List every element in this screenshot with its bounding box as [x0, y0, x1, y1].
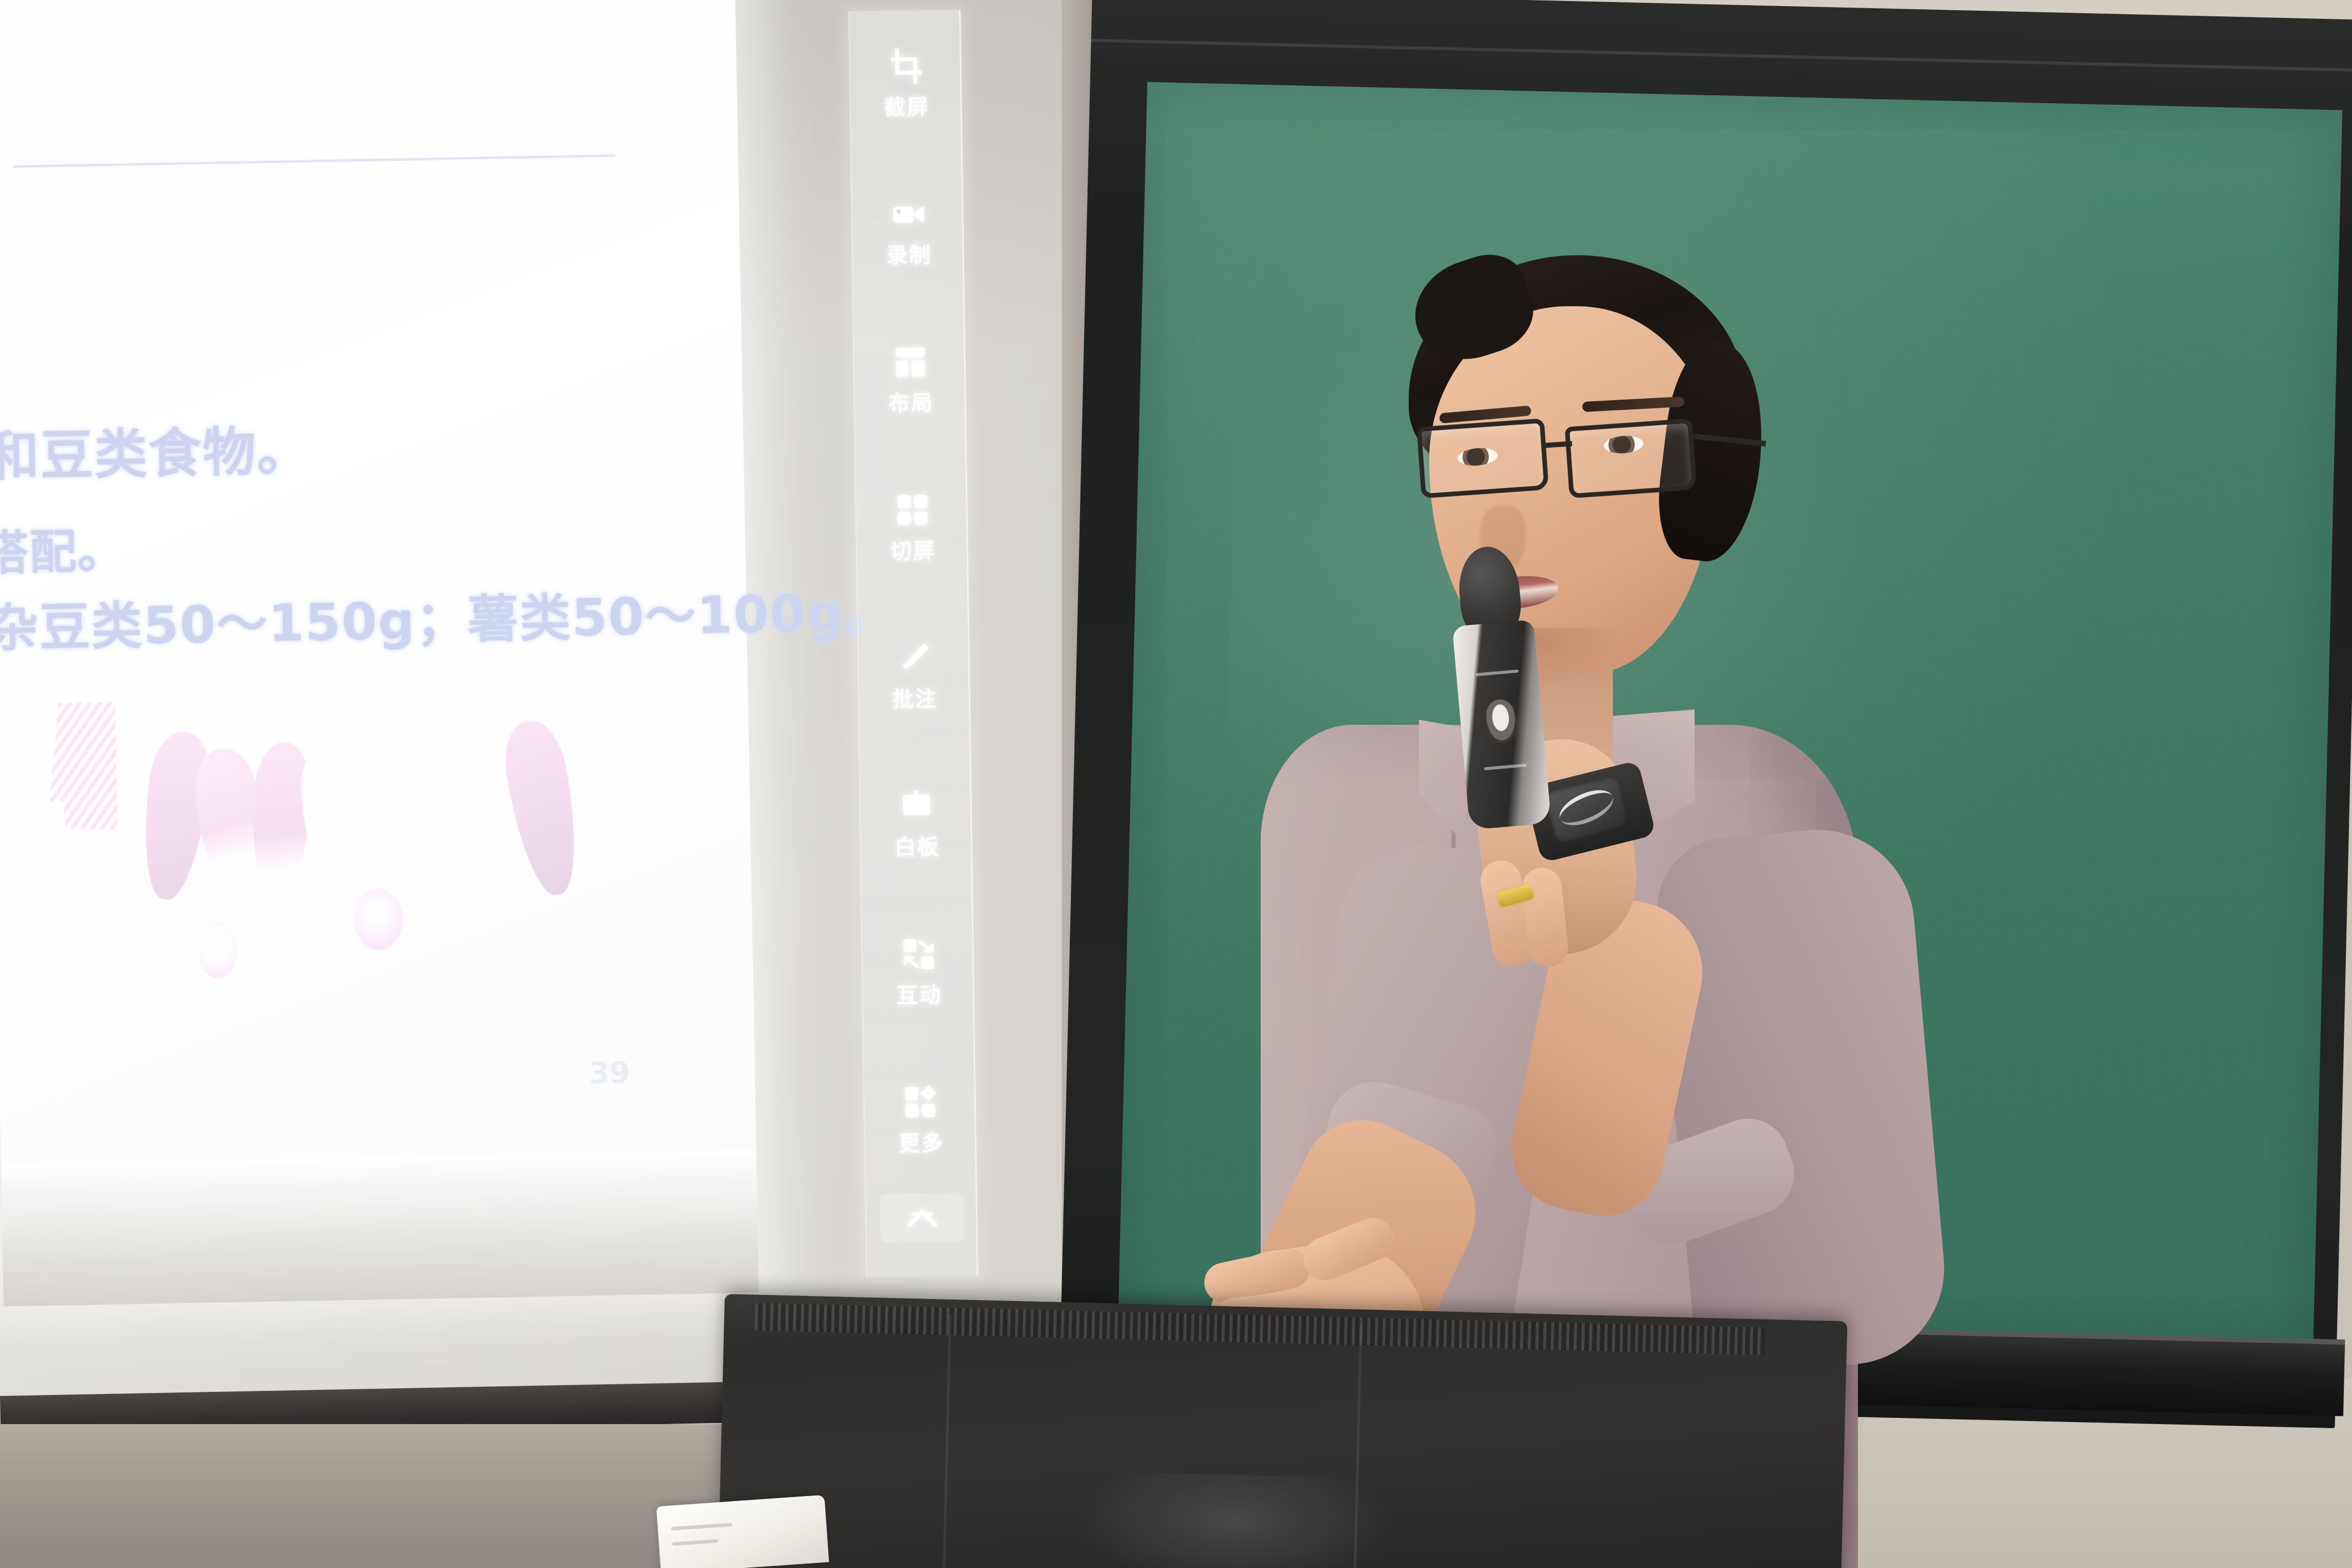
toolbar-item-whiteboard[interactable]: 白板 — [860, 780, 974, 899]
toolbar-item-more[interactable]: 更多 — [864, 1076, 978, 1195]
toolbar-label: 截屏 — [884, 90, 930, 121]
paper-sheet — [656, 1495, 829, 1568]
slide-page-number: 39 — [589, 1055, 630, 1090]
crop-icon — [888, 48, 924, 84]
toolbar-label: 白板 — [894, 830, 940, 862]
toolbar-label: 更多 — [898, 1126, 944, 1158]
grain-photo-cell — [58, 964, 122, 1113]
paper-line — [671, 1523, 732, 1530]
slide-divider-rule — [13, 154, 616, 168]
sweet-potato — [349, 736, 421, 903]
slide-text-line-2: 理搭配。 — [0, 513, 126, 584]
interaction-arrows-icon — [900, 936, 937, 972]
paper-line — [672, 1539, 718, 1546]
whiteboard-icon — [898, 788, 935, 824]
toolbar-label: 录制 — [886, 238, 932, 269]
toolbar-label: 切屏 — [890, 534, 936, 566]
projection-screen: 奶和豆类食物。 理搭配。 和杂豆类50～150g；薯类50～100g。 — [0, 0, 759, 1302]
slide-text-line-1: 奶和豆类食物。 — [0, 407, 311, 492]
grid-four-icon — [894, 492, 930, 528]
layout-icon — [892, 344, 928, 380]
monitor-glare — [1075, 1471, 1394, 1568]
toolbar-item-annotate[interactable]: 批注 — [858, 632, 972, 751]
grain-photo-cell — [58, 828, 122, 985]
grain-collage-image — [0, 702, 122, 1113]
display-monitor-rear[interactable] — [718, 1294, 1847, 1568]
camcorder-icon — [890, 196, 926, 232]
toolbar-collapse-button[interactable] — [880, 1193, 964, 1243]
eyeglasses — [1414, 419, 1741, 510]
sweet-potato-slice — [300, 922, 345, 981]
sweet-potato-image — [133, 714, 599, 1048]
brush-icon — [896, 640, 933, 676]
toolbar-label: 互动 — [896, 978, 942, 1010]
toolbar-label: 批注 — [892, 682, 938, 714]
sweet-potato-slice — [353, 888, 403, 950]
more-apps-icon — [902, 1084, 939, 1120]
toolbar-item-record[interactable]: 录制 — [852, 188, 966, 307]
toolbar-item-screenshot[interactable]: 截屏 — [850, 40, 964, 159]
toolbar-item-layout[interactable]: 布局 — [854, 336, 968, 455]
glasses-lens-right — [1564, 418, 1697, 498]
presenter-left-arm — [1651, 822, 1952, 1378]
classroom-scene: 奶和豆类食物。 理搭配。 和杂豆类50～150g；薯类50～100g。 — [0, 0, 2352, 1568]
toolbar-item-split-screen[interactable]: 切屏 — [856, 484, 970, 603]
glasses-lens-left — [1416, 418, 1549, 498]
chevron-up-icon — [906, 1207, 939, 1229]
sweet-potato-slice — [197, 922, 238, 978]
toolbar-item-interaction[interactable]: 互动 — [862, 928, 976, 1047]
toolbar-label: 布局 — [888, 386, 934, 418]
sweet-potato — [249, 741, 313, 912]
projection-surface: 奶和豆类食物。 理搭配。 和杂豆类50～150g；薯类50～100g。 — [0, 0, 759, 1302]
sweet-potato-slice — [241, 923, 288, 985]
screen-lower-falloff — [1, 1149, 759, 1306]
smartboard-toolbar[interactable]: 截屏 录制 布局 — [848, 10, 978, 1277]
